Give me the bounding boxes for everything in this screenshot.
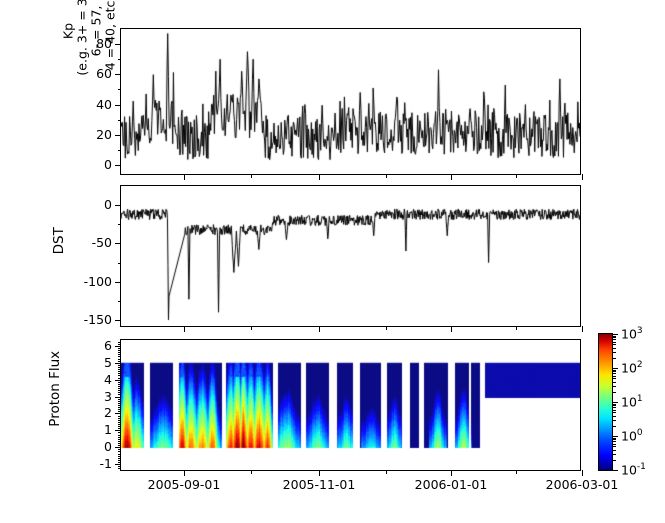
flux-y-minor-tick <box>118 418 121 419</box>
colorbar-minor-tick <box>612 339 616 340</box>
flux-y-minor-tick <box>118 460 121 461</box>
kp-x-tick <box>184 174 185 180</box>
colorbar-minor-tick <box>612 405 616 406</box>
flux-y-minor-tick <box>118 407 121 408</box>
colorbar-tick-label: 103 <box>621 327 643 341</box>
flux-y-minor-tick <box>118 426 121 427</box>
flux-y-minor-tick <box>118 346 121 347</box>
colorbar-minor-tick <box>612 420 616 421</box>
colorbar-minor-tick <box>612 344 616 345</box>
kp-x-minor-tick <box>251 174 252 178</box>
colorbar-minor-tick <box>612 426 616 427</box>
flux-y-tick-label: 6 <box>104 340 112 353</box>
kp-x-tick <box>319 174 320 180</box>
flux-y-minor-tick <box>118 439 121 440</box>
flux-y-minor-tick <box>118 430 121 431</box>
flux-y-minor-tick <box>118 401 121 402</box>
dst-y-tick-label: 0 <box>104 199 112 212</box>
colorbar-minor-tick <box>612 352 616 353</box>
dst-y-tick <box>115 243 121 244</box>
colorbar-minor-tick <box>612 392 616 393</box>
flux-y-minor-tick <box>118 392 121 393</box>
colorbar-minor-tick <box>612 337 616 338</box>
dst-y-tick-label: -100 <box>84 275 112 288</box>
flux-x-minor-tick <box>386 470 387 474</box>
flux-y-minor-tick <box>118 365 121 366</box>
colorbar-minor-tick <box>612 404 616 405</box>
flux-y-minor-tick <box>118 466 121 467</box>
colorbar-minor-tick <box>612 358 616 359</box>
colorbar-minor-tick <box>612 450 616 451</box>
colorbar-tick-label: 101 <box>621 395 643 409</box>
flux-y-minor-tick <box>118 420 121 421</box>
kp-x-tick <box>582 174 583 180</box>
flux-y-minor-tick <box>118 354 121 355</box>
colorbar-minor-tick <box>612 446 616 447</box>
dst-y-tick <box>115 205 121 206</box>
colorbar-minor-tick <box>612 376 616 377</box>
colorbar-minor-tick <box>612 348 616 349</box>
flux-y-minor-tick <box>118 445 121 446</box>
flux-y-minor-tick <box>118 380 121 381</box>
kp-y-tick <box>115 165 121 166</box>
flux-y-minor-tick <box>118 363 121 364</box>
flux-y-minor-tick <box>118 369 121 370</box>
flux-y-minor-tick <box>118 422 121 423</box>
flux-y-minor-tick <box>118 382 121 383</box>
flux-y-minor-tick <box>118 416 121 417</box>
flux-y-minor-tick <box>118 413 121 414</box>
kp-x-minor-tick <box>516 174 517 178</box>
flux-x-minor-tick <box>251 470 252 474</box>
flux-y-minor-tick <box>118 462 121 463</box>
flux-x-tick <box>451 470 452 476</box>
kp-y-tick-label: 40 <box>96 98 112 111</box>
panel-proton-flux: -10123456 2005-09-012005-11-012006-01-01… <box>120 339 581 471</box>
flux-y-minor-tick <box>118 411 121 412</box>
kp-y-minor-tick <box>118 150 122 151</box>
flux-y-tick-label: 5 <box>104 357 112 370</box>
flux-y-minor-tick <box>118 367 121 368</box>
colorbar-minor-tick <box>612 386 616 387</box>
colorbar-tick-label: 102 <box>621 361 643 375</box>
flux-y-minor-tick <box>118 394 121 395</box>
dst-y-tick-label: -50 <box>92 237 112 250</box>
kp-y-tick <box>115 105 121 106</box>
flux-y-minor-tick <box>118 350 121 351</box>
kp-x-minor-tick <box>386 174 387 178</box>
x-axis-tick-label: 2006-01-01 <box>415 479 488 492</box>
dst-y-minor-tick <box>118 224 122 225</box>
kp-y-minor-tick <box>118 89 122 90</box>
flux-y-tick-label: 3 <box>104 390 112 403</box>
flux-y-minor-tick <box>118 409 121 410</box>
flux-plot-area <box>121 340 580 470</box>
flux-y-minor-tick <box>118 356 121 357</box>
kp-axis-label-line-4: 4 = 40, etc.) <box>104 0 118 76</box>
dst-plot-area <box>121 186 580 326</box>
colorbar-minor-tick <box>612 410 616 411</box>
kp-plot-area <box>121 29 580 174</box>
colorbar-tick <box>612 470 618 471</box>
flux-y-tick-label: -1 <box>100 458 112 471</box>
colorbar-tick-label: 10-1 <box>621 463 646 477</box>
flux-y-minor-tick <box>118 432 121 433</box>
kp-y-minor-tick <box>118 59 122 60</box>
colorbar-minor-tick <box>612 342 616 343</box>
colorbar-minor-tick <box>612 439 616 440</box>
x-axis-tick-label: 2005-11-01 <box>283 479 356 492</box>
flux-y-minor-tick <box>118 384 121 385</box>
panel-dst: 0-50-100-150 <box>120 185 581 327</box>
colorbar-minor-tick <box>612 371 616 372</box>
dst-x-minor-tick <box>251 326 252 330</box>
colorbar-minor-tick <box>612 412 616 413</box>
colorbar-minor-tick <box>612 378 616 379</box>
flux-y-tick-label: 0 <box>104 441 112 454</box>
flux-y-minor-tick <box>118 397 121 398</box>
flux-y-minor-tick <box>118 443 121 444</box>
flux-y-minor-tick <box>118 458 121 459</box>
flux-y-minor-tick <box>118 348 121 349</box>
flux-y-minor-tick <box>118 447 121 448</box>
flux-y-minor-tick <box>118 405 121 406</box>
flux-y-minor-tick <box>118 456 121 457</box>
flux-y-minor-tick <box>118 435 121 436</box>
colorbar-tick-label: 100 <box>621 429 643 443</box>
flux-y-minor-tick <box>118 344 121 345</box>
kp-y-minor-tick <box>118 120 122 121</box>
colorbar-minor-tick <box>612 336 616 337</box>
flux-y-minor-tick <box>118 386 121 387</box>
colorbar-minor-tick <box>612 441 616 442</box>
flux-y-minor-tick <box>118 449 121 450</box>
dst-y-minor-tick <box>118 263 122 264</box>
flux-y-minor-tick <box>118 359 121 360</box>
colorbar-minor-tick <box>612 454 616 455</box>
colorbar-minor-tick <box>612 444 616 445</box>
dst-x-tick <box>582 326 583 332</box>
panel-kp: 020406080 <box>120 28 581 175</box>
kp-y-tick <box>115 135 121 136</box>
flux-y-minor-tick <box>118 352 121 353</box>
dst-x-tick <box>451 326 452 332</box>
kp-y-tick-label: 0 <box>104 159 112 172</box>
flux-y-minor-tick <box>118 373 121 374</box>
x-axis-tick-label: 2006-03-01 <box>546 479 619 492</box>
dst-x-minor-tick <box>516 326 517 330</box>
colorbar-minor-tick <box>612 407 616 408</box>
colorbar-minor-tick <box>612 416 616 417</box>
kp-y-tick-label: 20 <box>96 128 112 141</box>
x-axis-tick-label: 2005-09-01 <box>148 479 221 492</box>
colorbar-minor-tick <box>612 370 616 371</box>
colorbar: 10-1100101102103 <box>598 333 613 471</box>
flux-y-tick-label: 2 <box>104 407 112 420</box>
colorbar-minor-tick <box>612 373 616 374</box>
flux-x-tick <box>184 470 185 476</box>
flux-y-minor-tick <box>118 388 121 389</box>
proton-flux-axis-label: Proton Flux <box>48 351 64 427</box>
dst-axis-label: DST <box>52 227 68 254</box>
figure-canvas: 020406080 Kp (e.g. 3+ = 33, 6- = 57, 4 =… <box>0 0 665 523</box>
flux-y-minor-tick <box>118 451 121 452</box>
flux-y-tick-label: 1 <box>104 424 112 437</box>
flux-y-minor-tick <box>118 361 121 362</box>
dst-y-minor-tick <box>118 301 122 302</box>
flux-y-minor-tick <box>118 375 121 376</box>
flux-y-minor-tick <box>118 371 121 372</box>
flux-y-minor-tick <box>118 468 121 469</box>
dst-x-minor-tick <box>386 326 387 330</box>
colorbar-minor-tick <box>612 460 616 461</box>
colorbar-minor-tick <box>612 438 616 439</box>
flux-y-minor-tick <box>118 464 121 465</box>
dst-x-tick <box>184 326 185 332</box>
flux-y-minor-tick <box>118 390 121 391</box>
dst-y-tick <box>115 320 121 321</box>
dst-y-tick <box>115 282 121 283</box>
flux-y-minor-tick <box>118 437 121 438</box>
flux-y-minor-tick <box>118 441 121 442</box>
kp-x-tick <box>451 174 452 180</box>
dst-x-tick <box>319 326 320 332</box>
flux-x-tick <box>582 470 583 476</box>
flux-x-tick <box>319 470 320 476</box>
flux-y-minor-tick <box>118 428 121 429</box>
flux-y-minor-tick <box>118 424 121 425</box>
dst-y-tick-label: -150 <box>84 314 112 327</box>
flux-y-tick-label: 4 <box>104 373 112 386</box>
flux-y-minor-tick <box>118 399 121 400</box>
flux-y-minor-tick <box>118 378 121 379</box>
flux-y-minor-tick <box>118 454 121 455</box>
flux-x-minor-tick <box>516 470 517 474</box>
flux-y-minor-tick <box>118 342 121 343</box>
colorbar-minor-tick <box>612 382 616 383</box>
flux-y-minor-tick <box>118 403 121 404</box>
